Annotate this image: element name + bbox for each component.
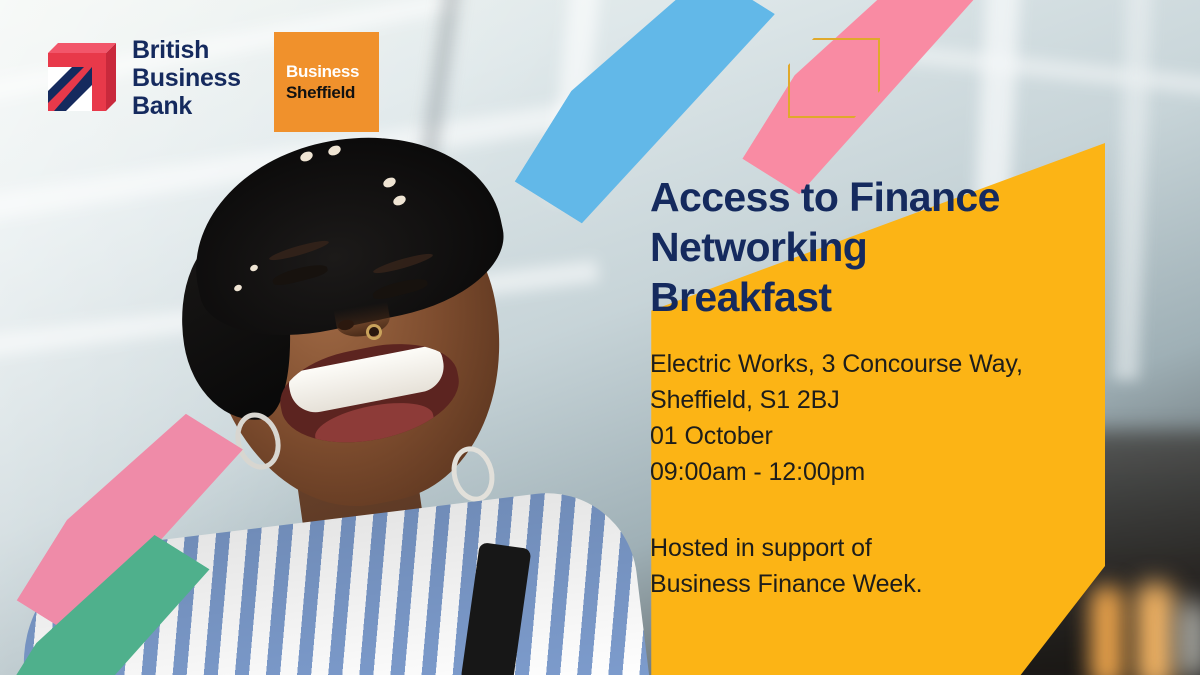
event-support-note: Hosted in support of Business Finance We… [650,530,1090,602]
british-business-bank-wordmark: British Business Bank [132,36,241,120]
background-bokeh-light [1178,600,1200,675]
headline-line-3: Breakfast [650,272,1090,322]
bbb-line-1: British [132,36,241,64]
event-date: 01 October [650,418,1090,454]
headline-line-2: Networking [650,222,1090,272]
background-bokeh-light [1135,582,1175,675]
business-sheffield-logo: Business Sheffield [274,32,379,132]
event-banner: Access to Finance Networking Breakfast E… [0,0,1200,675]
sheffield-line-1: Business [286,61,379,82]
sheffield-line-2: Sheffield [286,82,379,103]
event-details-block: Access to Finance Networking Breakfast E… [650,172,1090,602]
event-time: 09:00am - 12:00pm [650,454,1090,490]
building-mullion [1113,0,1154,380]
background-bokeh-light [1090,585,1124,675]
british-business-bank-logo: British Business Bank [44,36,241,120]
event-headline: Access to Finance Networking Breakfast [650,172,1090,322]
headline-line-1: Access to Finance [650,172,1090,222]
venue-line-2: Sheffield, S1 2BJ [650,382,1090,418]
support-line-2: Business Finance Week. [650,566,1090,602]
bbb-line-2: Business [132,64,241,92]
british-business-bank-chevron-mark-icon [44,37,118,119]
venue-line-1: Electric Works, 3 Concourse Way, [650,346,1090,382]
event-venue-and-time: Electric Works, 3 Concourse Way, Sheffie… [650,346,1090,490]
bbb-line-3: Bank [132,92,241,120]
support-line-1: Hosted in support of [650,530,1090,566]
